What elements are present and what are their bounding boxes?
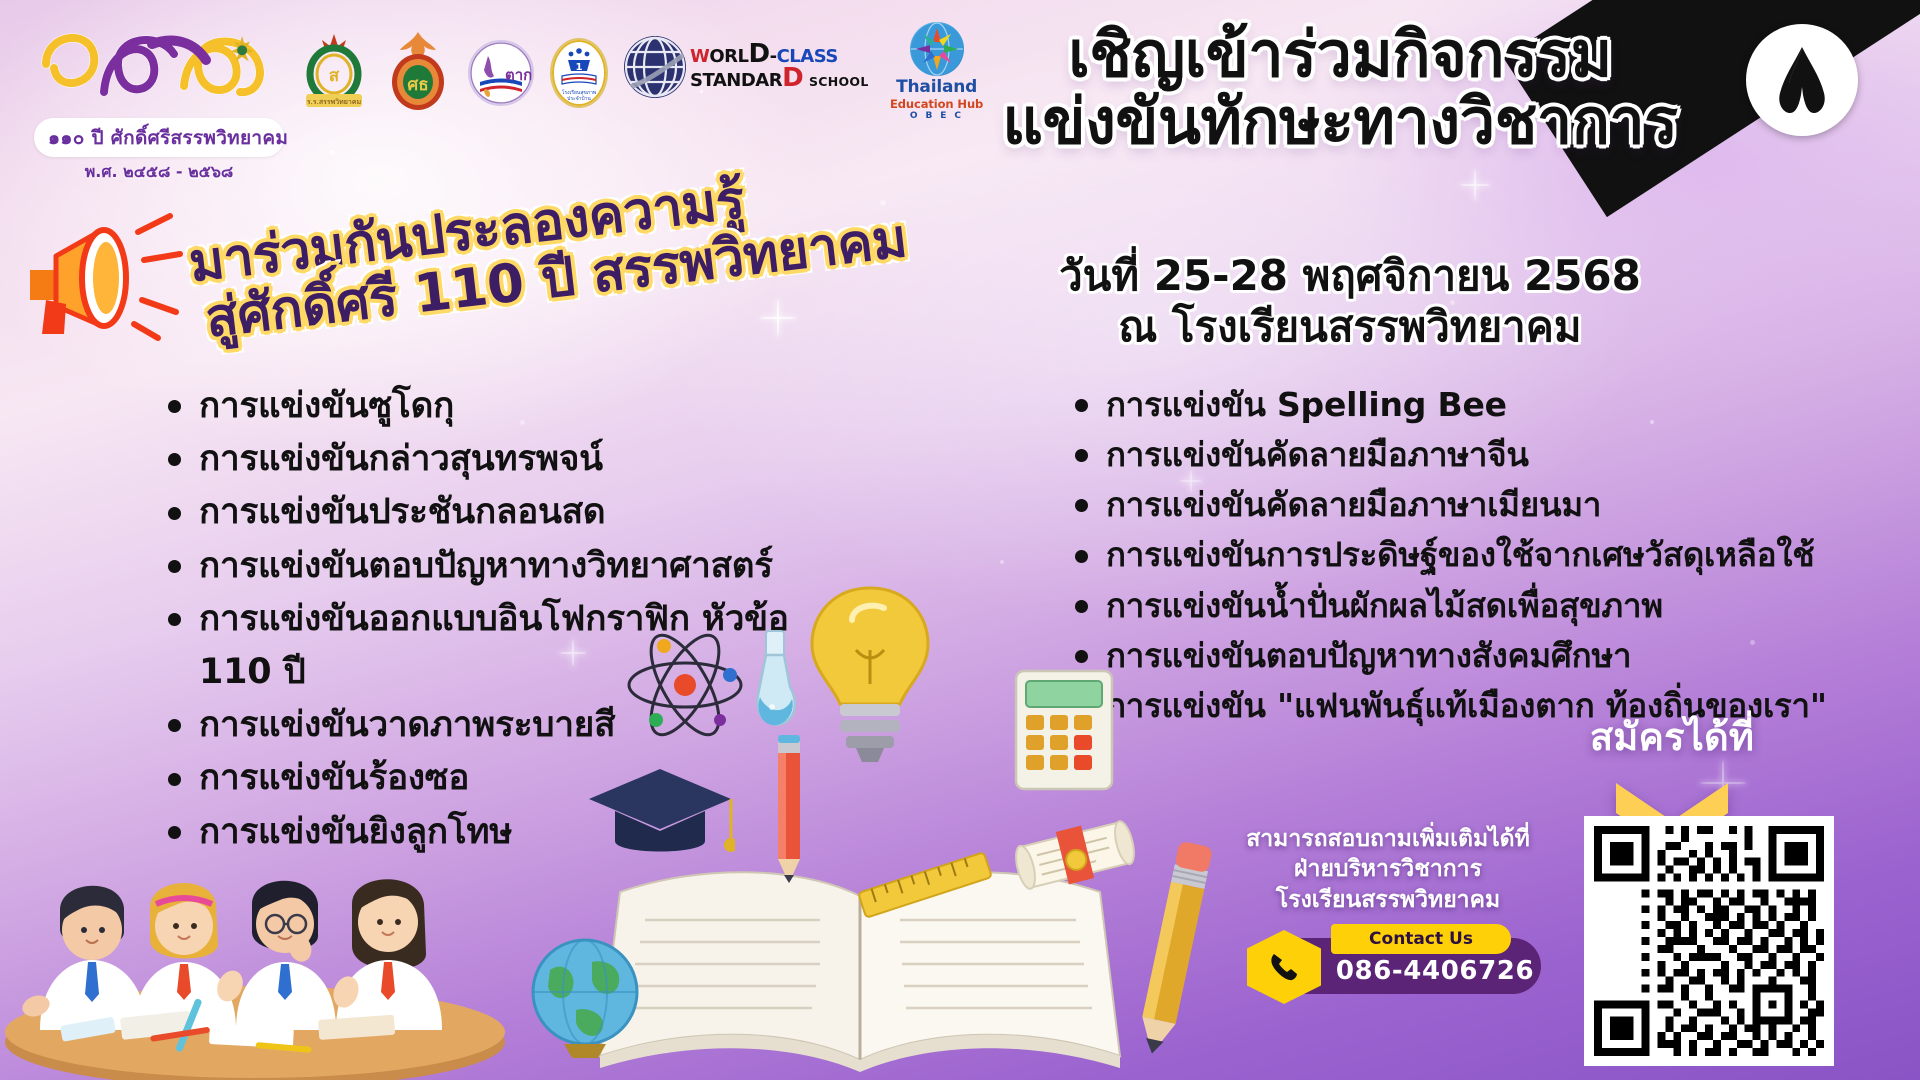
right-activity-label: การแข่งขันคัดลายมือภาษาเมียนมา [1106,480,1601,530]
left-activity-item: การแข่งขันกล่าวสุนทรพจน์ [168,433,868,486]
pencil-illustration [760,735,820,885]
contact-line2: ฝ่ายบริหารวิชาการ [1208,854,1568,885]
bullet-dot-icon [1075,600,1088,613]
left-activity-label: การแข่งขันกล่าวสุนทรพจน์ [199,433,603,486]
contact-line3: โรงเรียนสรรพวิทยาคม [1208,885,1568,916]
svg-text:1: 1 [576,62,583,73]
calculator-illustration [1010,665,1120,795]
bullet-dot-icon [1075,650,1088,663]
right-activity-item: การแข่งขันตอบปัญหาทางสังคมศึกษา [1075,631,1905,681]
logo-row: ๑๑๐ ปี ศักดิ์ศรีสรรพวิทยาคม พ.ศ. ๒๔๕๘ - … [34,8,989,180]
left-activity-label: การแข่งขันซูโดกุ [199,380,454,433]
right-activity-list: การแข่งขัน Spelling Beeการแข่งขันคัดลายม… [1075,380,1905,731]
left-activity-item: การแข่งขันซูโดกุ [168,380,868,433]
thai-numeral-110-mark [34,8,284,116]
qr-code-image[interactable] [1594,826,1824,1056]
bullet-dot-icon [168,453,181,466]
bullet-dot-icon [1075,550,1088,563]
main-title-line1: เชิญเข้าร่วมกิจกรรม [1068,18,1612,91]
bullet-dot-icon [168,613,181,626]
bullet-dot-icon [168,400,181,413]
right-activity-label: การแข่งขันการประดิษฐ์ของใช้จากเศษวัสดุเห… [1106,530,1814,580]
wcs-w: W [690,46,709,67]
right-activity-item: การแข่งขันคัดลายมือภาษาจีน [1075,430,1905,480]
school-seal-logo: ส ร.ร.สรรพวิทยาคม [300,30,368,116]
ribbon-icon [1770,43,1834,117]
left-activity-label: การแข่งขันวาดภาพระบายสี [199,699,615,752]
black-mourning-ribbon-icon [1746,24,1858,136]
wcs-s: S [690,70,702,91]
diploma-illustration [1010,800,1140,910]
atom-illustration [620,620,750,750]
tak-label: ตาก [505,66,532,84]
svg-text:ส: ส [329,66,340,86]
right-activity-label: การแข่งขันตอบปัญหาทางสังคมศึกษา [1106,631,1631,681]
right-activity-item: การแข่งขัน Spelling Bee [1075,380,1905,430]
tak-province-logo: ตาก [468,40,534,106]
event-location: ณ โรงเรียนสรรพวิทยาคม [980,301,1720,352]
left-activity-item: การแข่งขันประชันกลอนสด [168,486,868,539]
svg-text:โรงเรียนสุขภาพ: โรงเรียนสุขภาพ [562,89,596,96]
main-title-line2: แข่งขันทักษะทางวิชาการ [960,89,1720,156]
wcs-dash: - [770,46,777,67]
wcs-tandar: TANDAR [702,70,782,91]
wcs-d1: D [749,39,770,69]
health-school-logo: 1 โรงเรียนสุขภาพ ประจำบ้าน [550,38,608,108]
graduation-cap-illustration [585,755,735,865]
left-activity-label: การแข่งขันตอบปัญหาทางวิทยาศาสตร์ [199,540,773,593]
globe-icon [624,36,686,98]
bullet-dot-icon [1075,449,1088,462]
wcs-school: SCHOOL [809,74,869,89]
anniversary-years-text: พ.ศ. ๒๔๕๘ - ๒๕๖๘ [34,160,284,185]
phone-number[interactable]: 086-4406726 [1335,956,1535,986]
school-seal-ribbon-label: ร.ร.สรรพวิทยาคม [307,98,361,106]
anniversary-badge-text: ๑๑๐ ปี ศักดิ์ศรีสรรพวิทยาคม [34,118,284,157]
teh-globe-icon [910,22,964,76]
right-activity-item: การแข่งขันการประดิษฐ์ของใช้จากเศษวัสดุเห… [1075,530,1905,580]
phone-contact-pill[interactable]: Contact Us 086-4406726 [1235,930,1541,1000]
bullet-dot-icon [168,507,181,520]
right-activity-item: การแข่งขันน้ำปั่นผักผลไม้สดเพื่อสุขภาพ [1075,581,1905,631]
bullet-dot-icon [1075,499,1088,512]
flask-illustration [740,625,810,735]
contact-block: สามารถสอบถามเพิ่มเติมได้ที่ ฝ่ายบริหารวิ… [1208,824,1568,1000]
left-activity-label: การแข่งขันประชันกลอนสด [199,486,605,539]
right-activity-label: การแข่งขันน้ำปั่นผักผลไม้สดเพื่อสุขภาพ [1106,581,1663,631]
event-date: วันที่ 25-28 พฤศจิกายน 2568 [980,250,1720,301]
wcs-d2: D [782,63,803,93]
poster-canvas: ๑๑๐ ปี ศักดิ์ศรีสรรพวิทยาคม พ.ศ. ๒๔๕๘ - … [0,0,1920,1080]
bullet-dot-icon [1075,399,1088,412]
world-class-standard-school-logo: WORLD-CLASS STANDARD SCHOOL [624,36,869,98]
contact-us-badge: Contact Us [1331,924,1511,954]
world-globe-illustration [520,930,650,1060]
ruler-illustration [855,850,995,920]
register-label: สมัครได้ที่ [1532,706,1812,767]
svg-text:ประจำบ้าน: ประจำบ้าน [567,95,591,102]
megaphone-icon [20,208,195,343]
bullet-dot-icon [168,560,181,573]
students-illustration [0,780,530,1080]
bullet-dot-icon [168,719,181,732]
large-pencil-illustration [1130,830,1220,1060]
registration-qr-code[interactable] [1584,816,1834,1066]
page-title: เชิญเข้าร่วมกิจกรรม แข่งขันทักษะทางวิชาก… [960,22,1720,156]
contact-line1: สามารถสอบถามเพิ่มเติมได้ที่ [1208,824,1568,855]
right-activity-label: การแข่งขันคัดลายมือภาษาจีน [1106,430,1529,480]
ministry-emblem-logo: ศธ [384,30,452,116]
left-activity-item: การแข่งขันตอบปัญหาทางวิทยาศาสตร์ [168,540,868,593]
right-activity-label: การแข่งขัน Spelling Bee [1106,380,1507,430]
wcs-orl: ORL [709,46,748,67]
right-activity-item: การแข่งขันคัดลายมือภาษาเมียนมา [1075,480,1905,530]
anniversary-logo: ๑๑๐ ปี ศักดิ์ศรีสรรพวิทยาคม พ.ศ. ๒๔๕๘ - … [34,8,284,180]
event-date-location: วันที่ 25-28 พฤศจิกายน 2568 ณ โรงเรียนสร… [980,250,1720,352]
light-bulb-illustration [800,580,940,780]
svg-text:ศธ: ศธ [407,75,428,95]
